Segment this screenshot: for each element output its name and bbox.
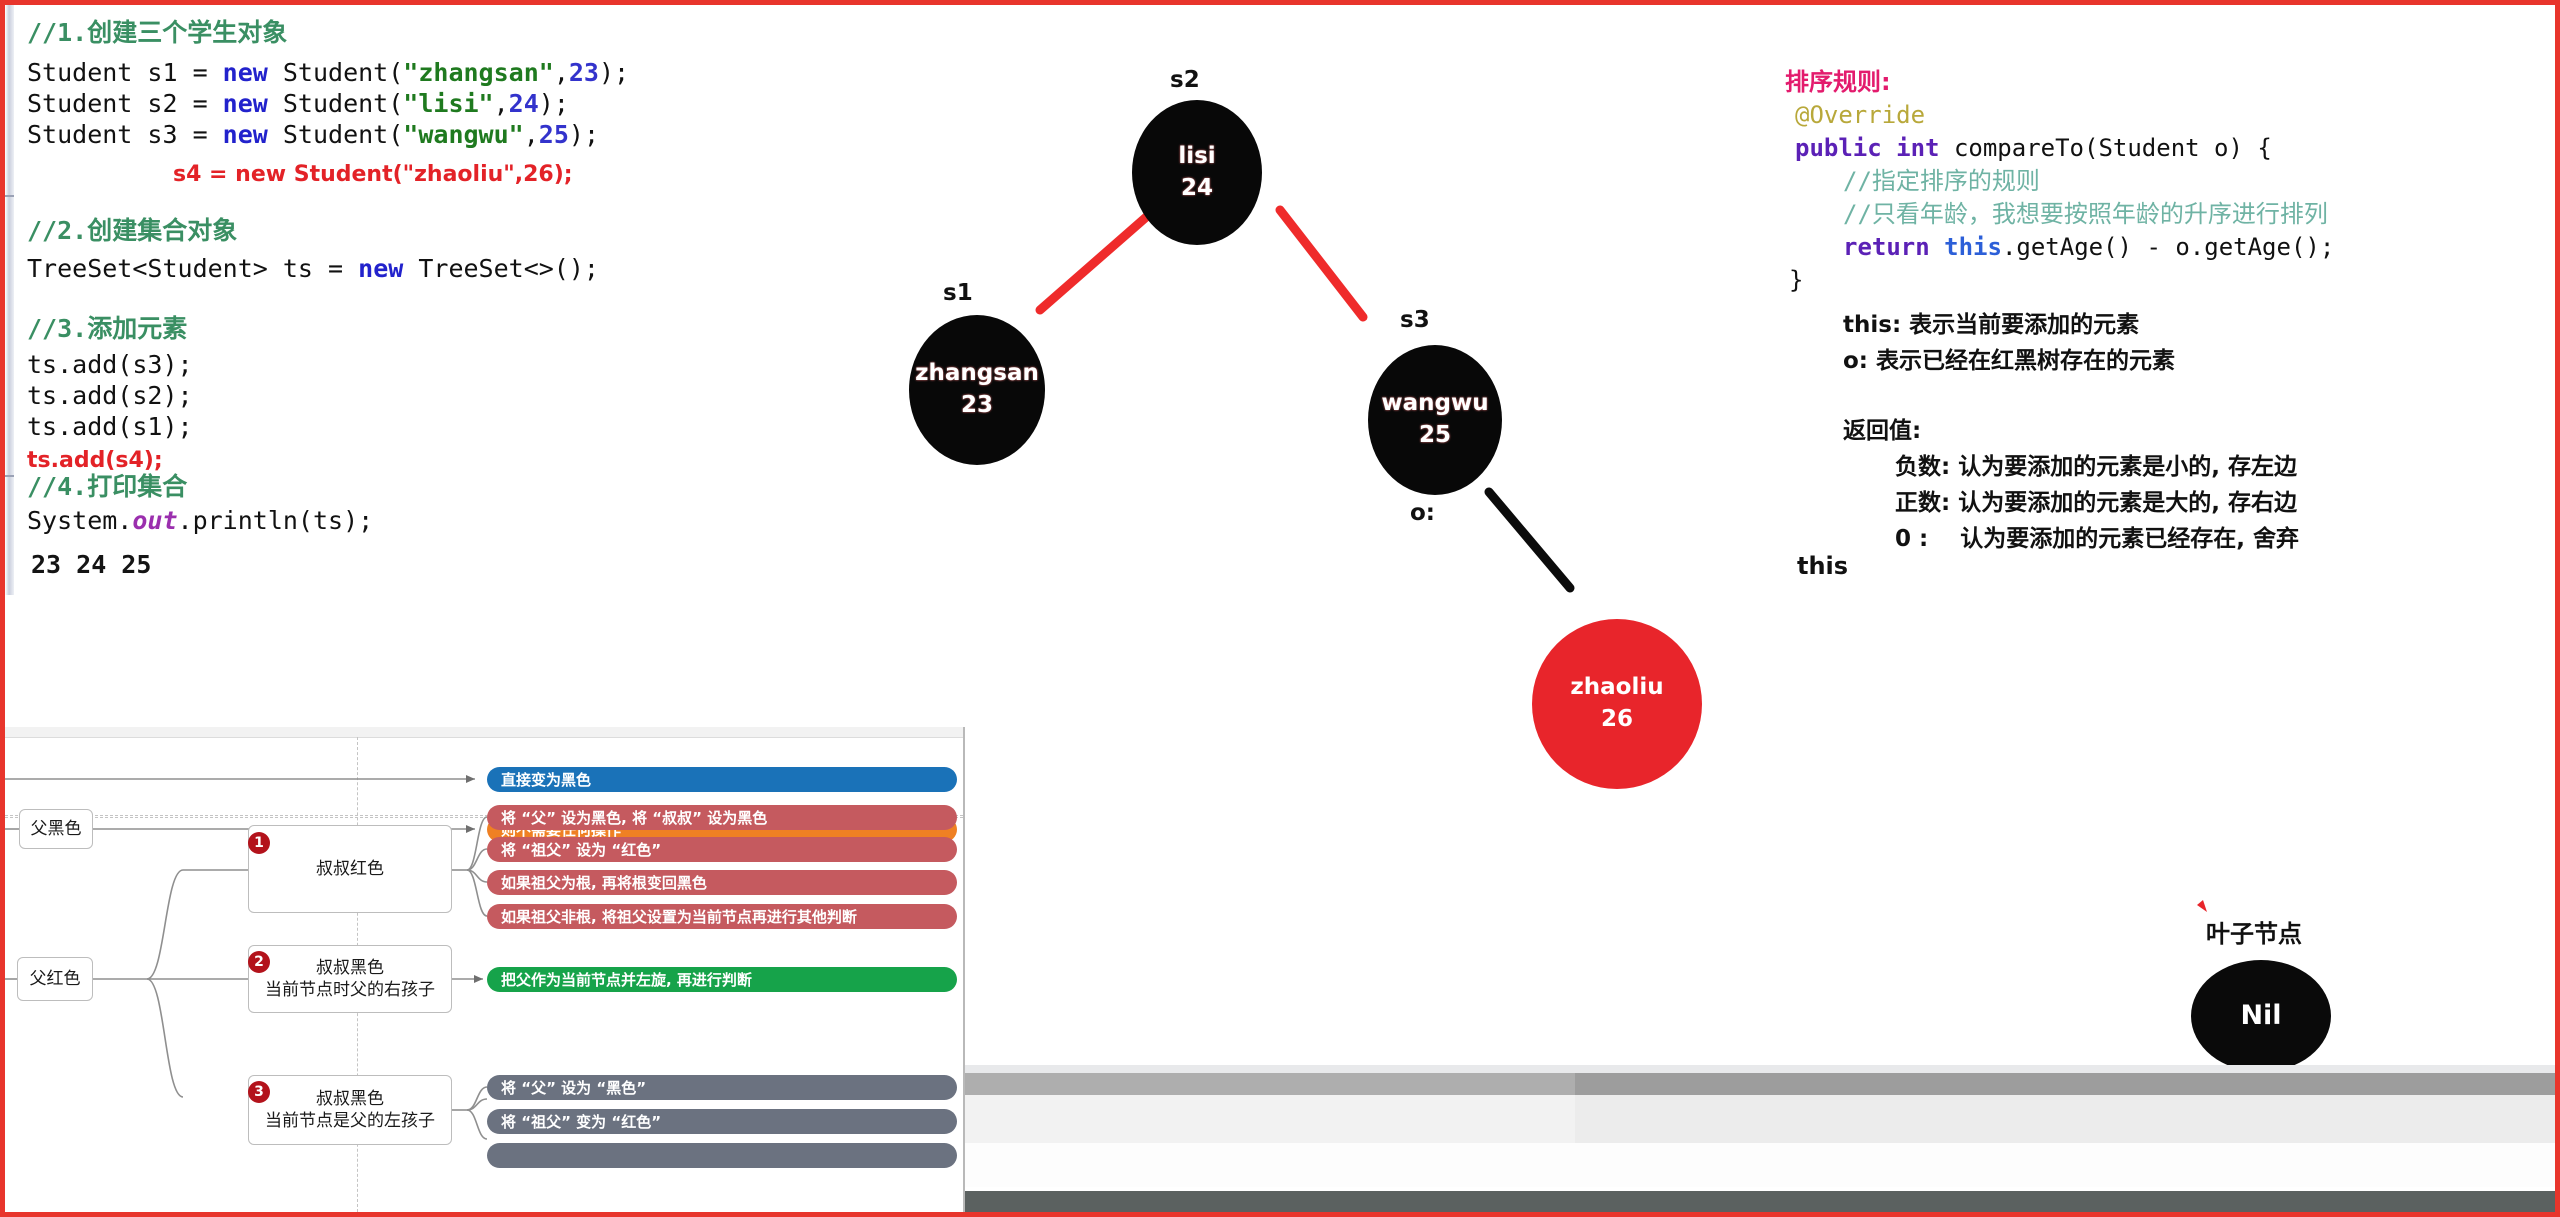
mindmap-pill-rule-extra[interactable] [487, 1143, 957, 1168]
mindmap-box-uncle-black-left[interactable]: 叔叔黑色 当前节点是父的左孩子 [248, 1075, 452, 1145]
mindmap-badge-2: 2 [248, 951, 270, 973]
mindmap-pill-rule-2[interactable]: 将 “祖父” 设为 “红色” [487, 837, 957, 862]
tree-node-name: wangwu [1381, 388, 1488, 418]
method-signature: compareTo(Student o) { [1940, 134, 2272, 162]
node-label-s3: s3 [1400, 307, 1430, 333]
rules-title: 排序规则: [1785, 65, 2545, 99]
return-zero: 0 : 认为要添加的元素已经存在, 舍弃 [1785, 521, 2545, 557]
return-expression: .getAge() - o.getAge(); [2002, 233, 2334, 261]
window-chrome-strip [965, 1065, 2555, 1073]
window-lower-strip [965, 1143, 2555, 1187]
mindmap-pill-direct-black[interactable]: 直接变为黑色 [487, 767, 957, 792]
method-keywords: public int [1795, 134, 1940, 162]
tree-node-age: 23 [961, 388, 993, 422]
mindmap-badge-3: 3 [248, 1081, 270, 1103]
node-label-s1: s1 [943, 280, 973, 306]
tree-node-nil[interactable]: Nil [2191, 960, 2331, 1072]
mindmap-box-parent-black[interactable]: 父黑色 [19, 809, 93, 849]
this-pointer-label: this [1797, 552, 1848, 580]
tree-node-zhangsan[interactable]: zhangsan 23 [909, 315, 1045, 465]
window-content-strip-right [1575, 1095, 2555, 1143]
sort-rule-explanation: 排序规则: @Override public int compareTo(Stu… [1785, 65, 2545, 557]
slide-canvas: //1.创建三个学生对象 Student s1 = new Student("z… [5, 5, 2555, 1212]
override-annotation: @Override [1795, 101, 1925, 129]
return-negative: 负数: 认为要添加的元素是小的, 存左边 [1785, 449, 2545, 485]
mindmap-pill-rotate[interactable]: 把父作为当前节点并左旋, 再进行判断 [487, 967, 957, 992]
mindmap-box-parent-red[interactable]: 父红色 [17, 957, 93, 1001]
o-description: o: 表示已经在红黑树存在的元素 [1785, 343, 2545, 379]
tree-node-name: lisi [1178, 141, 1215, 171]
tree-node-age: 24 [1181, 171, 1213, 205]
window-toolbar-strip-right [1575, 1073, 2555, 1095]
mindmap-pill-parent-black[interactable]: 将 “父” 设为 “黑色” [487, 1075, 957, 1100]
this-keyword: this [1944, 233, 2002, 261]
node-label-s2: s2 [1170, 67, 1200, 93]
rule-comment-2: //只看年龄，我想要按照年龄的升序进行排列 [1843, 200, 2328, 228]
mindmap-panel: 父黑色 父红色 叔叔红色 叔叔黑色 当前节点时父的右孩子 叔叔黑色 当前节点是父… [5, 727, 965, 1212]
this-description: this: 表示当前要添加的元素 [1785, 307, 2545, 343]
mindmap-badge-1: 1 [248, 832, 270, 854]
tree-node-age: 25 [1419, 418, 1451, 452]
mindmap-pill-rule-1[interactable]: 将 “父” 设为黑色, 将 “叔叔” 设为黑色 [487, 805, 957, 830]
leaf-node-note: 叶子节点 [2206, 914, 2302, 949]
mindmap-pill-rule-3[interactable]: 如果祖父为根, 再将根变回黑色 [487, 870, 957, 895]
return-keyword: return [1843, 233, 1944, 261]
tree-node-lisi[interactable]: lisi 24 [1132, 100, 1262, 245]
o-pointer-label: o: [1410, 500, 1435, 526]
tree-node-name: zhangsan [915, 358, 1039, 388]
tree-node-name: Nil [2240, 1001, 2281, 1031]
mindmap-pill-rule-4[interactable]: 如果祖父非根, 将祖父设置为当前节点再进行其他判断 [487, 904, 957, 929]
closing-brace: } [1789, 266, 1803, 294]
taskbar-strip [965, 1191, 2555, 1212]
tree-node-age: 26 [1601, 702, 1633, 736]
return-value-title: 返回值: [1785, 413, 2545, 449]
mindmap-box-uncle-red[interactable]: 叔叔红色 [248, 825, 452, 913]
tree-node-wangwu[interactable]: wangwu 25 [1368, 345, 1502, 495]
rule-comment-1: //指定排序的规则 [1843, 167, 2040, 195]
mindmap-box-uncle-black-right[interactable]: 叔叔黑色 当前节点时父的右孩子 [248, 945, 452, 1013]
tree-node-name: zhaoliu [1570, 672, 1663, 702]
mindmap-pill-grandparent-red[interactable]: 将 “祖父” 变为 “红色” [487, 1109, 957, 1134]
tree-node-zhaoliu[interactable]: zhaoliu 26 [1532, 619, 1702, 789]
return-positive: 正数: 认为要添加的元素是大的, 存右边 [1785, 485, 2545, 521]
